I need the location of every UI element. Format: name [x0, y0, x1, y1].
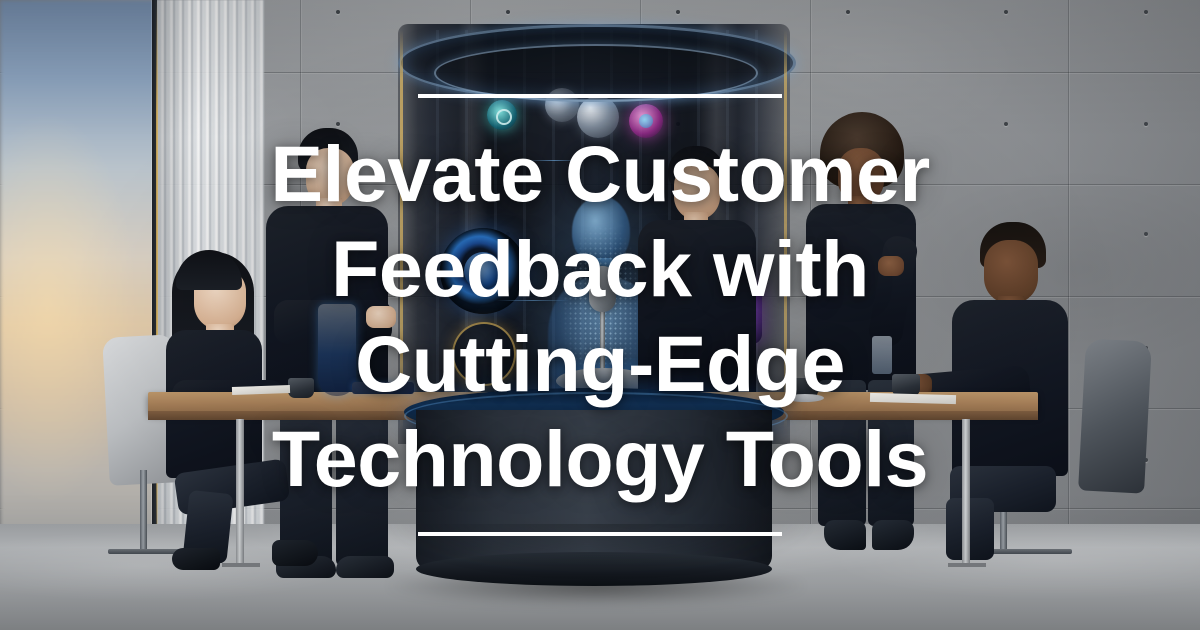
rule-top	[418, 94, 782, 98]
headline-block: Elevate Customer Feedback with Cutting-E…	[0, 0, 1200, 630]
page-title: Elevate Customer Feedback with Cutting-E…	[270, 126, 929, 506]
rule-bottom	[418, 532, 782, 536]
hero-banner: Elevate Customer Feedback with Cutting-E…	[0, 0, 1200, 630]
